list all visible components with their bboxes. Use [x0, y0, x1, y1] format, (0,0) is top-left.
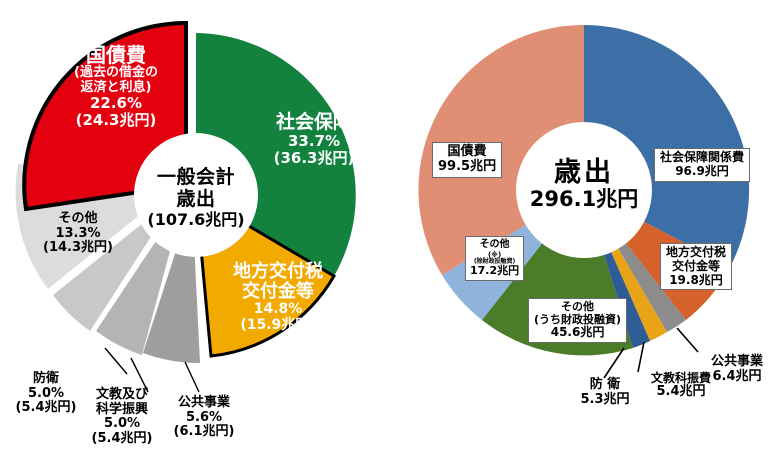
label-local-allocation-tax-name2: 交付金等 — [208, 282, 348, 302]
label-national-debt-service-note2: 返済と利息) — [42, 81, 190, 96]
label-national-debt-service-amount: (24.3兆円) — [42, 112, 190, 129]
chart-general-account-expenditure: 一般会計 歳出 (107.6兆円) 社会保障 33.7% (36.3兆円) 地方… — [0, 0, 392, 468]
right-center-total: 296.1兆円 — [520, 188, 648, 211]
leader-line-defense — [105, 348, 127, 374]
left-center-line1: 一般会計 — [136, 166, 256, 188]
leader-line-public-works — [677, 328, 698, 352]
callout-social-security-related-name: 社会保障関係費 — [660, 151, 744, 165]
label-social-security-percent: 33.7% — [252, 133, 376, 150]
label-national-debt-service-name: 国債費 — [42, 44, 190, 66]
callout-national-debt-service: 国債費 99.5兆円 — [432, 142, 502, 178]
callout-local-allocation-tax-amount: 19.8兆円 — [666, 274, 726, 288]
label-other-amount: (14.3兆円) — [26, 241, 130, 256]
label-public-works-name: 公共事業 — [152, 396, 256, 411]
label-public-works-name: 公共事業 — [698, 355, 776, 370]
chart-total-expenditure: 歳出 296.1兆円 国債費 99.5兆円 社会保障関係費 96.9兆円 地方交… — [392, 0, 777, 468]
callout-other-ex-name: その他 — [470, 239, 519, 251]
label-public-works-percent: 5.6% — [152, 411, 256, 426]
label-other-percent: 13.3% — [26, 227, 130, 242]
callout-other-fiscal-amount: 45.6兆円 — [534, 326, 621, 340]
callout-social-security-related: 社会保障関係費 96.9兆円 — [654, 148, 750, 182]
label-public-works-amount: 6.4兆円 — [698, 370, 776, 385]
callout-other-fiscal-name: その他 — [534, 301, 621, 314]
label-public-works-amount: (6.1兆円) — [152, 425, 256, 440]
callout-social-security-related-amount: 96.9兆円 — [660, 165, 744, 179]
figure-root: 一般会計 歳出 (107.6兆円) 社会保障 33.7% (36.3兆円) 地方… — [0, 0, 777, 468]
left-center-total: (107.6兆円) — [136, 211, 256, 230]
label-social-security: 社会保障 33.7% (36.3兆円) — [252, 112, 376, 167]
callout-other-ex-amount: 17.2兆円 — [470, 265, 519, 278]
callout-local-allocation-tax-name1: 地方交付税 — [666, 246, 726, 260]
callout-local-allocation-tax-name2: 交付金等 — [666, 260, 726, 274]
label-national-debt-service: 国債費 (過去の借金の 返済と利息) 22.6% (24.3兆円) — [42, 44, 190, 129]
right-chart-center-label: 歳出 296.1兆円 — [520, 158, 648, 211]
label-national-debt-service-percent: 22.6% — [42, 95, 190, 112]
label-defense-amount: 5.3兆円 — [570, 393, 640, 408]
callout-other-excluding-fiscal-investment: その他 (※) (除財政投融資) 17.2兆円 — [465, 236, 524, 281]
label-local-allocation-tax-amount: (15.9兆円) — [208, 318, 348, 334]
label-defense-name: 防衛 — [2, 372, 90, 387]
label-local-allocation-tax-name1: 地方交付税 — [208, 262, 348, 282]
callout-national-debt-service-name: 国債費 — [438, 145, 496, 160]
label-local-allocation-tax: 地方交付税 交付金等 14.8% (15.9兆円) — [208, 262, 348, 334]
callout-other-fiscal-investment: その他 (うち財政投融資) 45.6兆円 — [528, 298, 627, 343]
label-other: その他 13.3% (14.3兆円) — [26, 212, 130, 256]
label-defense: 防 衛 5.3兆円 — [570, 378, 640, 407]
label-education-science-amount: 5.4兆円 — [640, 385, 722, 400]
label-social-security-amount: (36.3兆円) — [252, 150, 376, 167]
label-local-allocation-tax-percent: 14.8% — [208, 302, 348, 318]
leader-line-education — [638, 342, 644, 372]
label-public-works: 公共事業 5.6% (6.1兆円) — [152, 396, 256, 440]
left-center-line2: 歳出 — [136, 188, 256, 210]
label-other-name: その他 — [26, 212, 130, 227]
label-national-debt-service-note1: (過去の借金の — [42, 66, 190, 81]
label-public-works: 公共事業 6.4兆円 — [698, 355, 776, 384]
callout-national-debt-service-amount: 99.5兆円 — [438, 160, 496, 175]
right-center-title: 歳出 — [520, 158, 648, 188]
label-defense-name: 防 衛 — [570, 378, 640, 393]
callout-local-allocation-tax: 地方交付税 交付金等 19.8兆円 — [660, 243, 732, 290]
label-social-security-name: 社会保障 — [252, 112, 376, 133]
leader-line-public-works — [185, 362, 199, 392]
left-chart-center-label: 一般会計 歳出 (107.6兆円) — [136, 166, 256, 230]
